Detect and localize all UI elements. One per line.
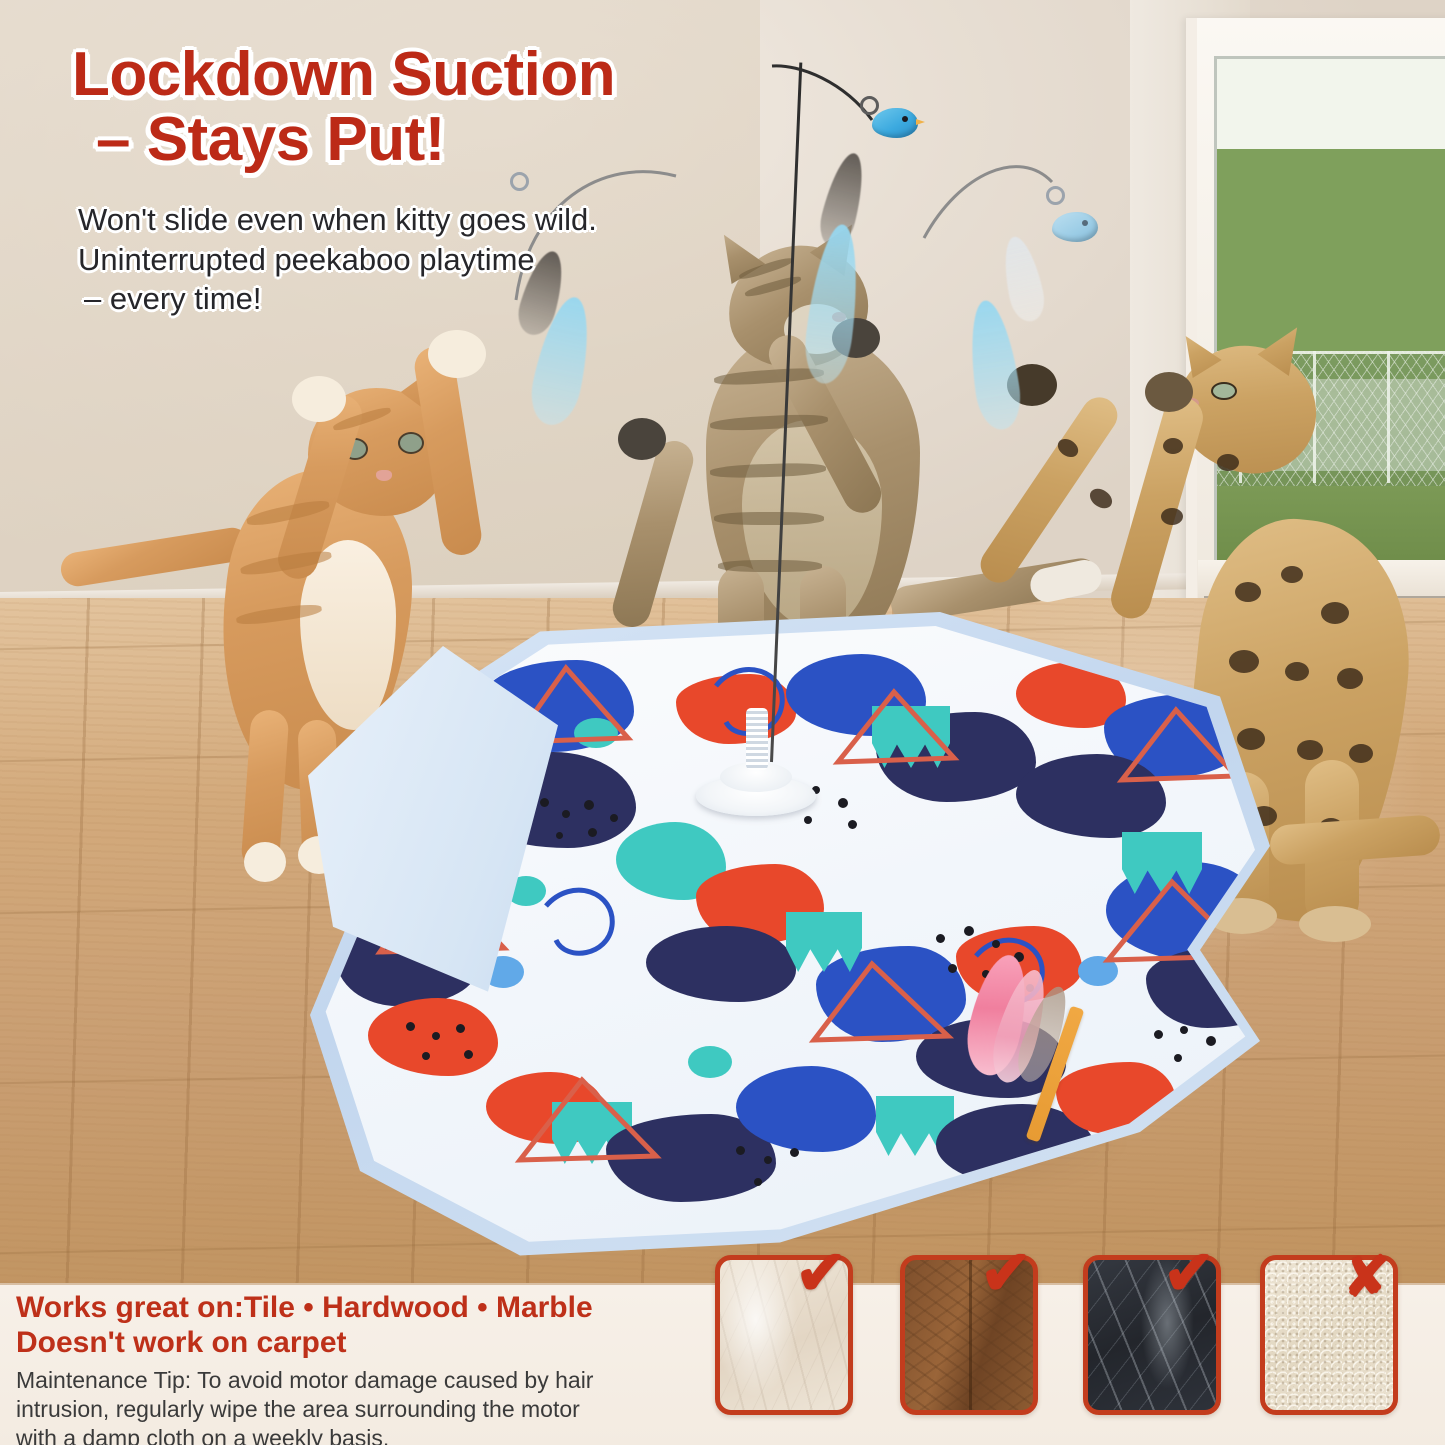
wand-clip-ring [1046,186,1065,205]
cross-icon-carpet: ✘ [1343,1249,1425,1305]
maintenance-tip: Maintenance Tip: To avoid motor damage c… [16,1366,696,1445]
surface-swatch-row: ✔ ✔ ✔ ✘ [715,1255,1435,1415]
subhead-line-2: Uninterrupted peekaboo playtime [78,240,698,280]
suction-motor-hub [696,748,816,818]
tip-line-1: Maintenance Tip: To avoid motor damage c… [16,1366,696,1395]
cat-hindpaw-left [244,842,286,882]
product-marketing-image: Lockdown Suction – Stays Put! Won't slid… [0,0,1445,1445]
compatibility-heading: Works great on:Tile • Hardwood • Marble … [16,1290,696,1360]
cat-hindpaw-right [1299,906,1371,942]
tip-line-2: intrusion, regularly wipe the area surro… [16,1395,696,1424]
compatibility-line-2: Doesn't work on carpet [16,1325,696,1360]
headline-line-2: – Stays Put! [96,107,772,172]
hub-spring [746,708,768,770]
pink-feather-wand [950,948,1170,1138]
bird-toy-pale-blue [1052,212,1098,242]
page-title: Lockdown Suction – Stays Put! [72,42,772,172]
compatibility-line-1: Works great on:Tile • Hardwood • Marble [16,1290,696,1325]
subheadline: Won't slide even when kitty goes wild. U… [78,200,698,319]
headline-line-1: Lockdown Suction [72,40,615,109]
subhead-line-3: – every time! [84,279,698,319]
tip-line-3: with a damp cloth on a weekly basis. [16,1424,696,1445]
peekaboo-cat-mat [300,612,1300,1282]
subhead-line-1: Won't slide even when kitty goes wild. [78,200,698,240]
